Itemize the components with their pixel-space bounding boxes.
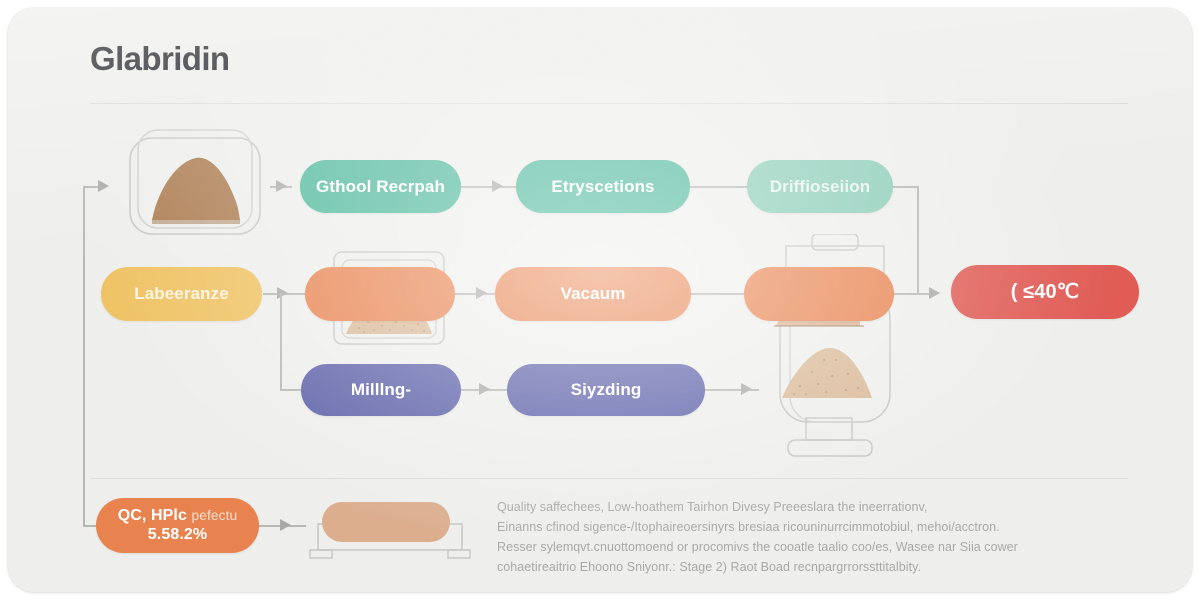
- connector-right-riser: [917, 186, 919, 294]
- arrow-to-terminal: [929, 287, 940, 299]
- footer-divider: [90, 478, 1128, 479]
- infographic-card: Glabridin: [8, 8, 1192, 592]
- footnote-block: Quality saffechees, Low-hoathem Tairhon …: [497, 497, 1097, 577]
- flow-node-r3c1-label: Milllng-: [351, 380, 411, 400]
- page-title: Glabridin: [90, 40, 229, 78]
- arrow-tray-to-r1c1: [276, 180, 287, 192]
- flow-node-r1c1-label: Gthool Recrpah: [316, 177, 445, 197]
- connector-r1c1-to-r1c2: [461, 186, 517, 188]
- flow-node-temperature-label: ( ≤40℃: [1011, 281, 1080, 304]
- tablet-press-icon: [304, 498, 476, 560]
- connector-r1c2-to-r1c3: [690, 186, 748, 188]
- footnote-line-2: Einanns cfinod sigence-/Itophaireoersiny…: [497, 517, 1097, 537]
- connector-r2c3-to-vessel: [690, 293, 744, 295]
- connector-feedback-top: [83, 186, 99, 188]
- arrow-feedback-into-tray: [98, 180, 109, 192]
- flow-node-qc[interactable]: QC, HPlc pefectu 5.58.2%: [96, 498, 259, 553]
- connector-branch-to-r3c1: [280, 389, 302, 391]
- flow-node-r2c3-label: Vacaum: [561, 284, 626, 304]
- flow-node-temperature[interactable]: ( ≤40℃: [951, 265, 1139, 319]
- header-divider: [90, 103, 1128, 104]
- footnote-line-3: Resser sylemqvt.cnuottomoend or procomiv…: [497, 537, 1097, 557]
- flow-node-r1c3-label: Driffioseiion: [770, 177, 870, 197]
- flow-node-r1c1[interactable]: Gthool Recrpah: [300, 160, 461, 213]
- flow-node-r3c2[interactable]: Siyzding: [507, 364, 705, 416]
- flow-node-r2c1-label: Labeeranze: [134, 284, 229, 304]
- flow-node-r2c2[interactable]: [305, 267, 455, 321]
- powder-tray-icon: [114, 124, 274, 248]
- screenshot-canvas: Glabridin: [0, 0, 1200, 600]
- connector-branch-r2-r3: [280, 293, 282, 390]
- connector-r1c3-out: [892, 186, 918, 188]
- flow-node-r2c4[interactable]: [744, 267, 894, 321]
- flow-node-r1c2-label: Etryscetions: [551, 177, 654, 197]
- flow-node-r1c2[interactable]: Etryscetions: [516, 160, 690, 213]
- flow-node-r2c1[interactable]: Labeeranze: [101, 267, 262, 321]
- flow-node-qc-line1: QC, HPlc pefectu: [118, 507, 238, 525]
- arrow-r3c2-to-vessel: [741, 383, 752, 395]
- flow-node-r1c3[interactable]: Driffioseiion: [747, 160, 893, 213]
- arrow-r3c1-to-r3c2: [479, 383, 490, 395]
- arrow-r1c1-to-r1c2: [492, 180, 503, 192]
- flow-node-qc-muted: pefectu: [192, 508, 238, 523]
- flow-node-r2c3[interactable]: Vacaum: [495, 267, 691, 321]
- flow-node-r3c2-label: Siyzding: [571, 380, 642, 400]
- flow-node-qc-strong: QC, HPlc: [118, 507, 187, 524]
- flow-node-qc-line2: 5.58.2%: [148, 526, 207, 544]
- footnote-line-1: Quality saffechees, Low-hoathem Tairhon …: [497, 497, 1097, 517]
- arrow-r2c2-to-r2c3: [476, 287, 487, 299]
- arrow-qc-to-press: [280, 519, 291, 531]
- footnote-line-4: cohaetireaitrio Ehoono Sniyonr.: Stage 2…: [497, 557, 1097, 577]
- connector-feedback-vertical: [83, 186, 85, 526]
- flow-node-r3c1[interactable]: Milllng-: [301, 364, 461, 416]
- arrow-r2c1-to-r2c2: [277, 287, 288, 299]
